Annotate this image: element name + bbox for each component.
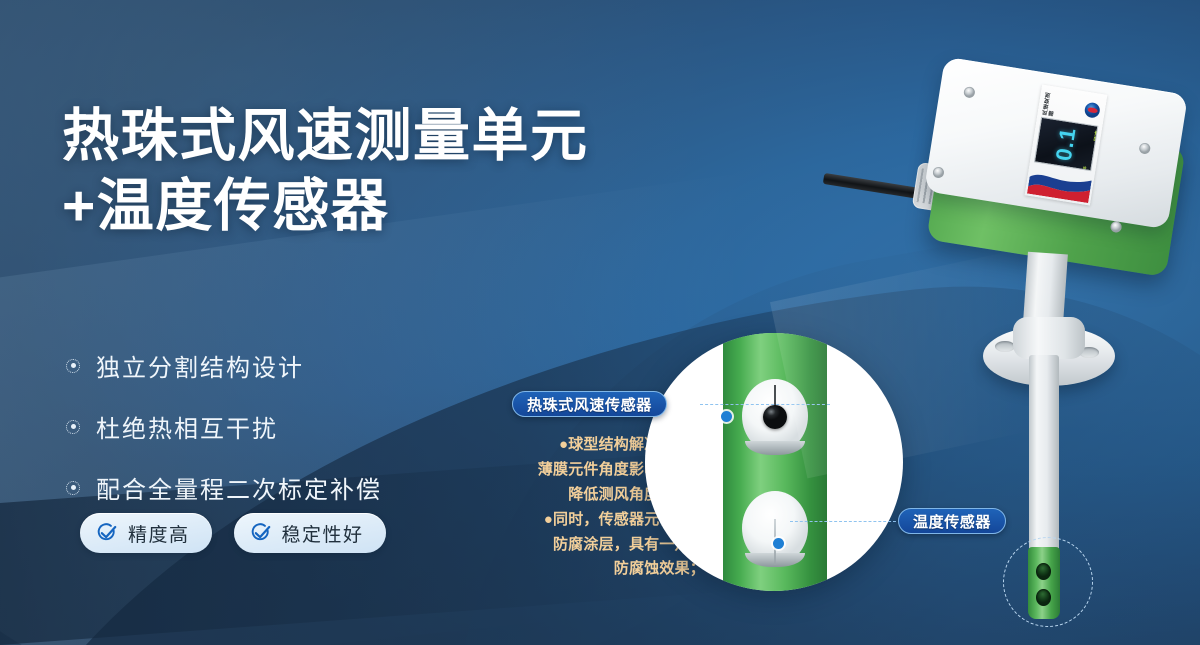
company-logo-icon: [1084, 101, 1101, 118]
callout-wind-sensor[interactable]: 热珠式风速传感器: [512, 391, 667, 417]
callout-wind-label: 热珠式风速传感器: [527, 394, 652, 415]
flange-hub: [1013, 317, 1085, 359]
badge-accuracy[interactable]: 精度高: [80, 513, 212, 553]
title-line-1: 热珠式风速测量单元: [62, 104, 589, 168]
magnified-detail-view: [645, 333, 903, 591]
list-item: 独立分割结构设计: [66, 348, 382, 383]
feature-label: 独立分割结构设计: [96, 348, 304, 383]
bullet-dot-icon: [66, 359, 80, 373]
feature-label: 杜绝热相互干扰: [96, 409, 278, 444]
probe-highlight-circle: [1003, 537, 1093, 627]
screw-icon: [932, 166, 945, 179]
feature-label: 配合全量程二次标定补偿: [96, 470, 382, 505]
product-image: 风速变送器 风速 0.1 m/s: [905, 55, 1200, 615]
description-line-6: 防腐蚀效果；: [480, 557, 705, 582]
badge-label: 稳定性好: [282, 520, 364, 547]
leader-line-temperature: [790, 521, 896, 522]
banner-stage: 热珠式风速测量单元 +温度传感器 独立分割结构设计 杜绝热相互干扰 配合全量程二…: [0, 0, 1200, 645]
lcd-display: 风速 0.1 m/s: [1034, 117, 1098, 172]
lcd-unit-top: 风速: [1092, 130, 1098, 142]
check-circle-icon: [96, 522, 118, 544]
callout-anchor-dot-temp: [773, 538, 784, 549]
page-title: 热珠式风速测量单元 +温度传感器: [62, 102, 762, 241]
badge-group: 精度高 稳定性好: [80, 513, 386, 553]
callout-anchor-dot-wind: [721, 411, 732, 422]
bullet-dot-icon: [66, 420, 80, 434]
leader-line-wind: [700, 404, 830, 405]
lcd-value: 0.1: [1051, 125, 1082, 162]
thermal-bead-icon: [763, 405, 787, 429]
screw-icon: [1138, 142, 1151, 155]
enclosure: 风速变送器 风速 0.1 m/s: [933, 67, 1183, 277]
badge-stability[interactable]: 稳定性好: [234, 513, 386, 553]
lcd-unit-bottom: m/s: [1080, 166, 1087, 172]
screw-icon: [963, 86, 976, 99]
bullet-dot-icon: [66, 481, 80, 495]
flange-screw-hole: [995, 341, 1015, 352]
list-item: 配合全量程二次标定补偿: [66, 470, 382, 505]
title-line-2: +温度传感器: [62, 172, 762, 242]
list-item: 杜绝热相互干扰: [66, 409, 382, 444]
check-circle-icon: [250, 522, 272, 544]
feature-list: 独立分割结构设计 杜绝热相互干扰 配合全量程二次标定补偿: [66, 348, 382, 531]
badge-label: 精度高: [128, 520, 190, 547]
brand-text: 风速变送器: [1042, 89, 1058, 117]
